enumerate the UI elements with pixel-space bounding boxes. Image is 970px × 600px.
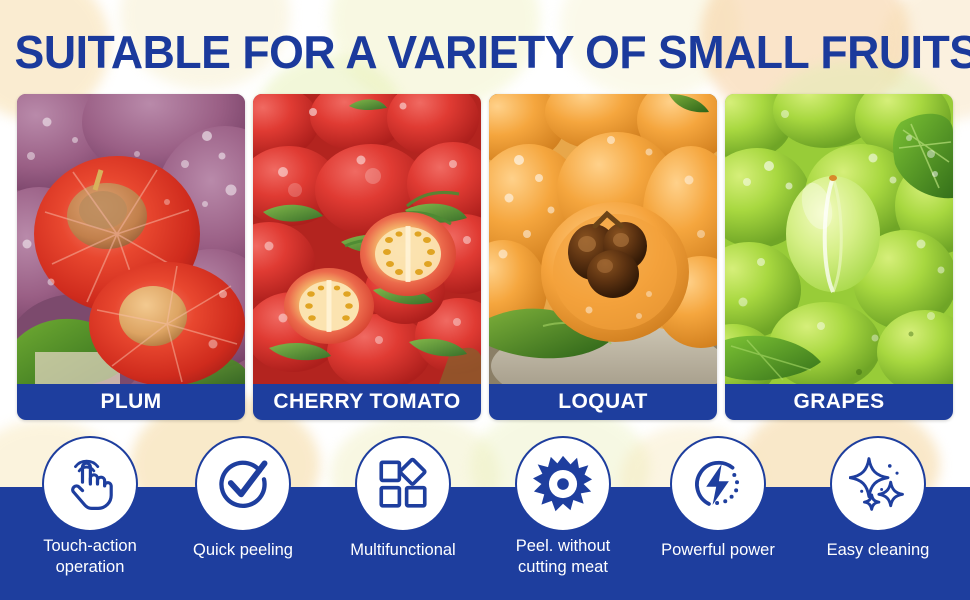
touch-hand-icon xyxy=(42,436,138,532)
fruit-card-label: GRAPES xyxy=(725,384,953,420)
four-squares-icon xyxy=(355,436,451,532)
saw-blade-icon xyxy=(515,436,611,532)
feature-label: Quick peeling xyxy=(155,540,331,561)
feature-quick-peeling[interactable]: Quick peeling xyxy=(155,432,331,600)
plum-photo xyxy=(17,94,245,384)
feature-easy-cleaning[interactable]: Easy cleaning xyxy=(790,432,966,600)
check-circle-icon xyxy=(195,436,291,532)
fruit-card-label: LOQUAT xyxy=(489,384,717,420)
fruit-card-loquat[interactable]: LOQUAT xyxy=(489,94,717,420)
feature-label: Easy cleaning xyxy=(790,540,966,561)
fruit-card-label: CHERRY TOMATO xyxy=(253,384,481,420)
feature-list: Touch-action operation Quick peeling xyxy=(0,432,970,600)
feature-powerful-power[interactable]: Powerful power xyxy=(630,432,806,600)
feature-label: Touch-action operation xyxy=(2,536,178,578)
fruit-card-cherry-tomato[interactable]: CHERRY TOMATO xyxy=(253,94,481,420)
lightning-bolt-icon xyxy=(670,436,766,532)
feature-multifunctional[interactable]: Multifunctional xyxy=(315,432,491,600)
fruit-card-plum[interactable]: PLUM xyxy=(17,94,245,420)
loquat-photo xyxy=(489,94,717,384)
sparkle-icon xyxy=(830,436,926,532)
feature-peel-without-cutting-meat[interactable]: Peel. without cutting meat xyxy=(475,432,651,600)
cherry-tomato-photo xyxy=(253,94,481,384)
feature-touch-action-operation[interactable]: Touch-action operation xyxy=(2,432,178,600)
feature-label: Powerful power xyxy=(630,540,806,561)
grapes-photo xyxy=(725,94,953,384)
promo-banner: SUITABLE FOR A VARIETY OF SMALL FRUITS xyxy=(0,0,970,600)
fruit-card-label: PLUM xyxy=(17,384,245,420)
page-title: SUITABLE FOR A VARIETY OF SMALL FRUITS xyxy=(15,24,956,80)
fruit-card-grapes[interactable]: GRAPES xyxy=(725,94,953,420)
feature-label: Multifunctional xyxy=(315,540,491,561)
feature-label: Peel. without cutting meat xyxy=(475,536,651,578)
fruit-card-list: PLUM xyxy=(17,94,953,420)
